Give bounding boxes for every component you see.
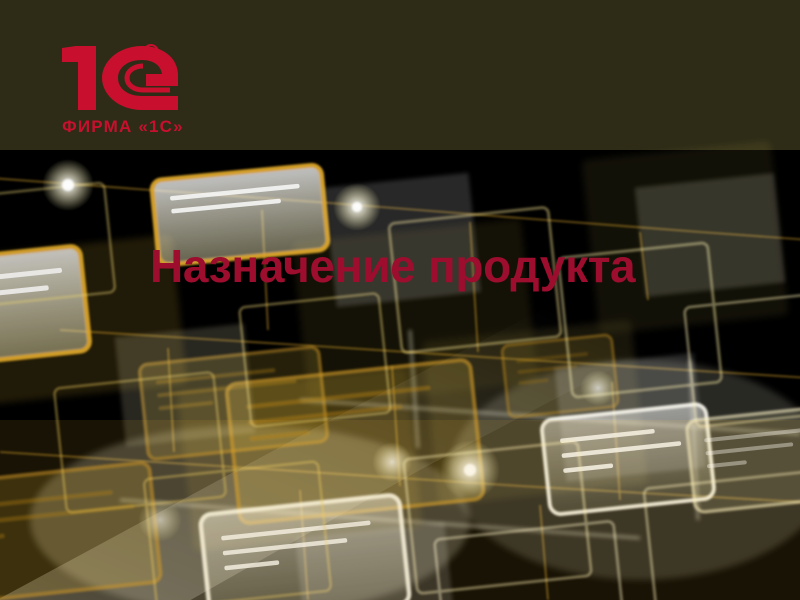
company-logo: ® ФИРМА «1С» [48, 28, 198, 138]
presentation-slide: ® ФИРМА «1С» Назначение продукта [0, 0, 800, 600]
logo-caption: ФИРМА «1С» [62, 117, 184, 136]
registered-symbol-glyph: ® [148, 48, 155, 58]
logo-1c-mark [62, 46, 178, 110]
slide-title: Назначение продукта [150, 243, 635, 289]
